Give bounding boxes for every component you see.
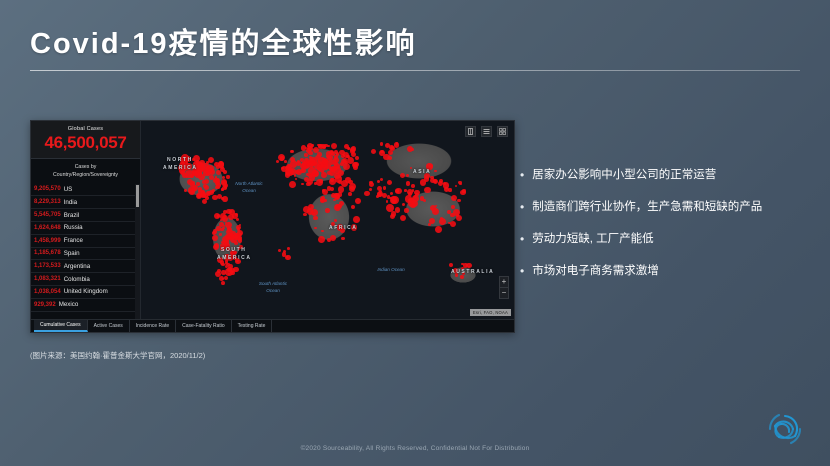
case-dot [391, 196, 399, 204]
case-dot [396, 189, 398, 191]
zoom-out-button[interactable]: − [500, 288, 508, 298]
case-dot [407, 146, 413, 152]
case-dot [395, 207, 401, 213]
case-dot [214, 213, 220, 219]
case-dot [323, 199, 327, 203]
map-region-label: AFRICA [329, 225, 358, 231]
case-dot [448, 188, 451, 191]
case-dot [308, 151, 312, 155]
case-dot [289, 181, 296, 188]
case-dot [281, 167, 283, 169]
case-dot [369, 188, 372, 191]
case-dot [330, 187, 334, 191]
country-case-count: 8,229,313 [34, 199, 61, 205]
dashboard-tabbar: Cumulative CasesActive CasesIncidence Ra… [31, 319, 514, 332]
bullet-text: 劳动力短缺, 工厂产能低 [532, 232, 653, 246]
case-dot [380, 142, 383, 145]
country-name: US [64, 186, 73, 193]
country-name: Colombia [64, 276, 90, 283]
country-row[interactable]: 1,038,054United Kingdom [31, 286, 135, 299]
map-region-label: NORTH [167, 157, 193, 163]
case-dot [212, 235, 218, 241]
bullet-item: •制造商们跨行业协作，生产急需和短缺的产品 [520, 200, 820, 214]
case-dot [318, 236, 325, 243]
case-dot [339, 205, 342, 208]
bullet-list: •居家办公影响中小型公司的正常运营•制造商们跨行业协作，生产急需和短缺的产品•劳… [520, 168, 820, 296]
jhu-covid-dashboard: Global Cases 46,500,057 Cases by Country… [30, 120, 515, 333]
case-dot [345, 177, 350, 182]
layers-icon[interactable] [481, 126, 492, 137]
country-name: Brazil [64, 212, 79, 219]
bullet-dot-icon: • [520, 264, 524, 278]
case-dot [318, 166, 324, 172]
case-dot [451, 205, 455, 209]
case-dot [450, 213, 455, 218]
case-dot [449, 263, 453, 267]
case-dot [222, 186, 227, 191]
case-dot [333, 157, 339, 163]
case-dot [228, 264, 233, 269]
map-tool-buttons [465, 126, 508, 137]
case-dot [204, 185, 210, 191]
country-row[interactable]: 1,173,533Argentina [31, 260, 135, 273]
page-title: Covid-19疫情的全球性影响 [30, 20, 416, 62]
map-region-label: AMERICA [163, 165, 198, 171]
case-dot [222, 176, 225, 179]
case-dot [285, 255, 291, 261]
case-dot [319, 179, 322, 182]
global-cases-value: 46,500,057 [35, 134, 136, 151]
case-dot [377, 180, 380, 183]
country-case-count: 1,173,533 [34, 263, 61, 269]
case-dot [353, 162, 359, 168]
case-dot [191, 181, 195, 185]
case-dot [317, 152, 321, 156]
case-dot [456, 214, 459, 217]
case-dot [295, 178, 297, 180]
case-dot [308, 167, 316, 175]
case-dot [234, 241, 238, 245]
case-dot [383, 186, 386, 189]
country-case-count: 929,392 [34, 302, 56, 308]
case-dot [325, 208, 329, 212]
case-dot [226, 175, 229, 178]
country-name: France [64, 237, 83, 244]
case-dot [228, 214, 234, 220]
case-dot [314, 227, 316, 229]
cases-by-line1: Cases by [34, 164, 137, 172]
map-region-label: AUSTRALIA [451, 269, 494, 275]
case-dot [406, 174, 409, 177]
case-dot [387, 180, 393, 186]
case-dot [311, 144, 313, 146]
case-dot [327, 238, 331, 242]
country-row[interactable]: 1,185,678Spain [31, 248, 135, 261]
case-dot [343, 158, 347, 162]
case-dot [313, 216, 317, 220]
map-attribution: Esri, FAO, NOAA [470, 309, 511, 316]
case-dot [285, 168, 294, 177]
bullet-dot-icon: • [520, 200, 524, 214]
bullet-item: •居家办公影响中小型公司的正常运营 [520, 168, 820, 182]
cases-by-line2: Country/Region/Sovereignty [34, 172, 137, 180]
case-dot [336, 152, 339, 155]
country-case-count: 1,458,999 [34, 238, 61, 244]
case-dot [221, 179, 227, 185]
case-dot [321, 230, 323, 232]
case-dot [307, 161, 311, 165]
case-dot [219, 276, 224, 281]
legend-icon[interactable] [465, 126, 476, 137]
basemap-icon[interactable] [497, 126, 508, 137]
case-dot [219, 233, 221, 235]
case-dot [383, 154, 389, 160]
case-dot [351, 205, 355, 209]
footer-copyright: ©2020 Sourceability, All Rights Reserved… [0, 445, 830, 452]
case-dot [215, 178, 220, 183]
country-name: India [64, 199, 77, 206]
case-dot [428, 223, 432, 227]
country-row[interactable]: 5,545,705Brazil [31, 209, 135, 222]
dashboard-tab[interactable]: Incidence Rate [130, 320, 176, 332]
case-dot [312, 212, 314, 214]
case-dot [460, 275, 465, 280]
dashboard-tab[interactable]: Active Cases [88, 320, 130, 332]
country-case-count: 9,205,570 [34, 186, 61, 192]
map-region-label: AMERICA [217, 255, 252, 261]
case-dot [386, 200, 389, 203]
case-dot [236, 218, 239, 221]
case-dot [440, 217, 443, 220]
case-dot [400, 173, 405, 178]
map-region-label: SOUTH [221, 247, 247, 253]
case-dot [371, 149, 376, 154]
case-dot [341, 154, 345, 158]
case-dot [184, 189, 187, 192]
case-dot [450, 221, 456, 227]
case-dot [278, 249, 281, 252]
case-dot [208, 157, 215, 164]
country-list[interactable]: 9,205,570US8,229,313India5,545,705Brazil… [31, 184, 135, 319]
country-row[interactable]: 929,392Mexico [31, 299, 135, 312]
case-dot [294, 174, 297, 177]
case-dot [451, 195, 457, 201]
case-dot [400, 215, 406, 221]
case-dot [302, 161, 307, 166]
case-dot [287, 247, 290, 250]
dashboard-tab[interactable]: Testing Rate [232, 320, 273, 332]
case-dot [221, 281, 225, 285]
country-list-wrapper: 9,205,570US8,229,313India5,545,705Brazil… [31, 184, 140, 319]
case-dot [355, 156, 359, 160]
case-dot [434, 170, 436, 172]
case-dot [435, 205, 437, 207]
case-dot [238, 238, 241, 241]
bullet-item: •市场对电子商务需求激增 [520, 264, 820, 278]
case-dot [203, 170, 208, 175]
case-dot [353, 216, 360, 223]
bullet-dot-icon: • [520, 168, 524, 182]
case-dot [406, 181, 410, 185]
map-ocean-label: South Atlantic Ocean [253, 281, 293, 295]
dashboard-tab[interactable]: Case-Fatality Ratio [176, 320, 232, 332]
case-dot [460, 190, 466, 196]
case-dot [386, 204, 394, 212]
dashboard-tab[interactable]: Cumulative Cases [34, 320, 88, 332]
sourceability-spiral-logo [762, 406, 808, 452]
case-dot [216, 226, 221, 231]
country-row[interactable]: 1,458,999France [31, 235, 135, 248]
dashboard-left-panel: Global Cases 46,500,057 Cases by Country… [31, 121, 141, 319]
case-dot [364, 191, 370, 197]
case-dot [216, 165, 220, 169]
country-row[interactable]: 9,205,570US [31, 184, 135, 197]
case-dot [296, 169, 302, 175]
country-case-count: 5,545,705 [34, 212, 61, 218]
case-dot [223, 170, 227, 174]
case-dot [443, 182, 446, 185]
case-dot [348, 192, 352, 196]
case-dot [224, 276, 228, 280]
case-dot [223, 225, 225, 227]
case-dot [225, 265, 228, 268]
case-dot [380, 178, 383, 181]
case-dot [221, 263, 224, 266]
case-dot [420, 196, 425, 201]
case-dot [333, 199, 336, 202]
case-dot [457, 199, 461, 203]
case-dot [410, 167, 412, 169]
case-dot [455, 185, 457, 187]
case-dot [301, 145, 306, 150]
global-cases-card: Global Cases 46,500,057 [31, 121, 140, 159]
case-dot [321, 172, 327, 178]
case-dot [322, 189, 325, 192]
case-dot [355, 198, 361, 204]
country-case-count: 1,624,648 [34, 225, 61, 231]
cases-by-header: Cases by Country/Region/Sovereignty [31, 159, 140, 184]
case-dot [402, 203, 405, 206]
case-dot [331, 143, 337, 149]
case-dot [276, 160, 279, 163]
case-dot [290, 150, 293, 153]
case-dot [390, 192, 393, 195]
case-dot [404, 208, 408, 212]
bullet-text: 居家办公影响中小型公司的正常运营 [532, 168, 716, 182]
case-dot [303, 206, 310, 213]
case-dot [303, 213, 306, 216]
map-ocean-label: Indian Ocean [371, 267, 411, 274]
case-dot [424, 187, 430, 193]
case-dot [307, 179, 313, 185]
world-map[interactable]: NORTHAMERICASOUTHAMERICAAFRICAASIAAUSTRA… [141, 121, 514, 319]
source-caption: (图片来源：美国约翰·霍普金斯大学官网，2020/11/2) [30, 350, 205, 361]
country-name: United Kingdom [64, 288, 108, 295]
zoom-in-button[interactable]: + [500, 277, 508, 287]
case-dot [221, 270, 225, 274]
case-dot [411, 184, 415, 188]
case-dot [213, 244, 219, 250]
case-dot [334, 173, 340, 179]
case-dot [192, 185, 198, 191]
bullet-text: 市场对电子商务需求激增 [532, 264, 659, 278]
country-row[interactable]: 8,229,313India [31, 196, 135, 209]
case-dot [197, 193, 201, 197]
case-dot [304, 153, 307, 156]
country-case-count: 1,083,321 [34, 276, 61, 282]
bullet-text: 制造商们跨行业协作，生产急需和短缺的产品 [532, 200, 762, 214]
country-name: Mexico [59, 301, 79, 308]
country-name: Argentina [64, 263, 91, 270]
case-dot [429, 164, 433, 168]
country-row[interactable]: 1,083,321Colombia [31, 273, 135, 286]
case-dot [432, 208, 439, 215]
case-dot [216, 170, 221, 175]
case-dot [341, 237, 345, 241]
case-dot [209, 190, 214, 195]
case-dot [369, 182, 374, 187]
bullet-item: •劳动力短缺, 工厂产能低 [520, 232, 820, 246]
country-case-count: 1,038,054 [34, 289, 61, 295]
case-dot [435, 226, 442, 233]
map-ocean-label: North Atlantic Ocean [229, 181, 269, 195]
case-dot [217, 186, 220, 189]
title-divider [30, 70, 800, 71]
case-dot [411, 200, 418, 207]
global-cases-label: Global Cases [35, 126, 136, 132]
country-name: Russia [64, 224, 83, 231]
case-dot [202, 199, 207, 204]
case-dot [430, 178, 435, 183]
country-case-count: 1,185,678 [34, 250, 61, 256]
dashboard-body: Global Cases 46,500,057 Cases by Country… [31, 121, 514, 319]
country-list-scrollbar[interactable] [135, 184, 140, 319]
case-dot [301, 183, 304, 186]
case-dot [237, 227, 241, 231]
scrollbar-thumb[interactable] [136, 185, 139, 207]
case-dot [390, 146, 395, 151]
case-dot [323, 146, 326, 149]
bullet-dot-icon: • [520, 232, 524, 246]
case-dot [390, 214, 395, 219]
case-dot [284, 160, 287, 163]
map-region-label: ASIA [413, 169, 431, 175]
country-row[interactable]: 1,624,648Russia [31, 222, 135, 235]
map-zoom-controls: + − [499, 276, 509, 299]
country-name: Spain [64, 250, 80, 257]
case-dot [330, 235, 336, 241]
